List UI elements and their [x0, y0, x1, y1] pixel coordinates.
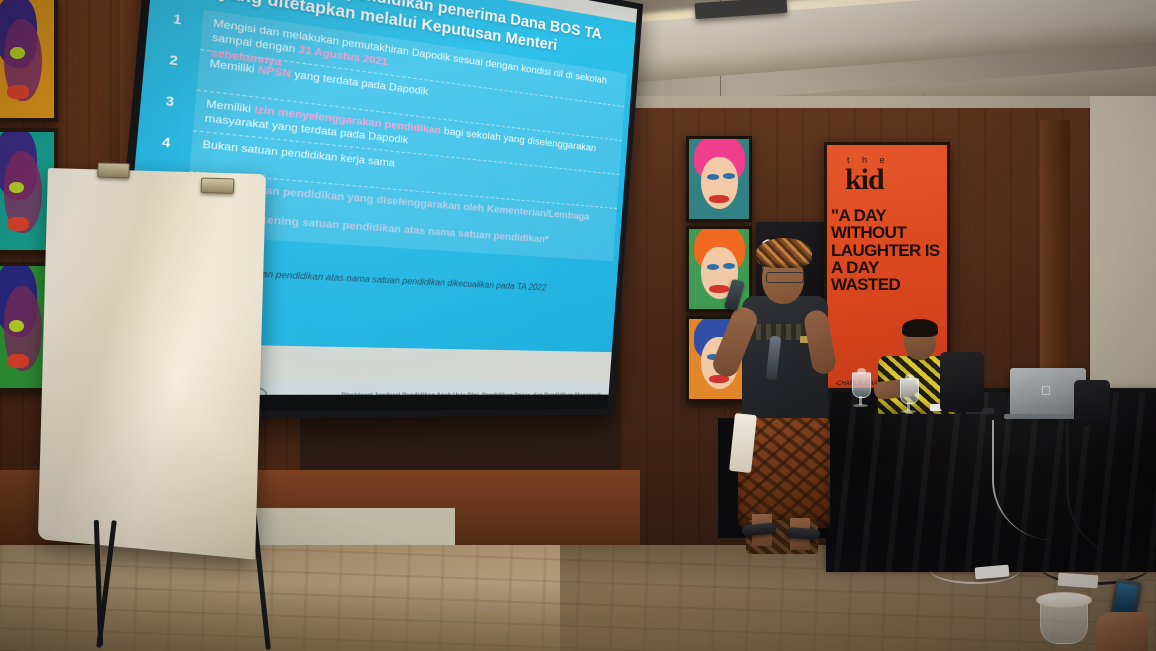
- marilyn-panel-pink: [686, 136, 752, 222]
- udeng-headband: [756, 238, 812, 268]
- poster-kid-title: kid: [845, 163, 884, 197]
- row-number: 1: [164, 11, 190, 29]
- flipchart: [38, 168, 266, 560]
- apple-logo-icon: : [1041, 384, 1054, 399]
- foreground-hand: [1096, 612, 1148, 651]
- flipchart-clip[interactable]: [97, 162, 130, 178]
- water-glass: [852, 372, 871, 398]
- chair: [940, 352, 984, 412]
- presenter: [716, 232, 846, 542]
- sandal: [786, 527, 821, 540]
- poster-quote: "A DAY WITHOUT LAUGHTER IS A DAY WASTED: [831, 207, 945, 294]
- phone-screen: [1114, 583, 1138, 616]
- row-number: 3: [157, 93, 183, 110]
- glass-base: [901, 410, 916, 413]
- baseboard-light-panel: [255, 508, 455, 550]
- right-light-wall: [1090, 96, 1156, 396]
- water-glass: [900, 378, 919, 404]
- glass-base: [853, 404, 868, 407]
- popart-panel-orange: [0, 0, 58, 122]
- row-number: 2: [161, 52, 187, 70]
- row-number: 4: [153, 135, 179, 152]
- flipchart-clip[interactable]: [201, 177, 235, 193]
- room-scene: 110 TAHUN KEBANGKITAN NASIONAL t h e kid…: [0, 0, 1156, 651]
- glasses-icon: [766, 272, 804, 283]
- seated-hair: [902, 319, 938, 337]
- power-strip: [1058, 573, 1099, 589]
- flipchart-paper: [38, 168, 266, 560]
- cup-lid: [1036, 592, 1092, 608]
